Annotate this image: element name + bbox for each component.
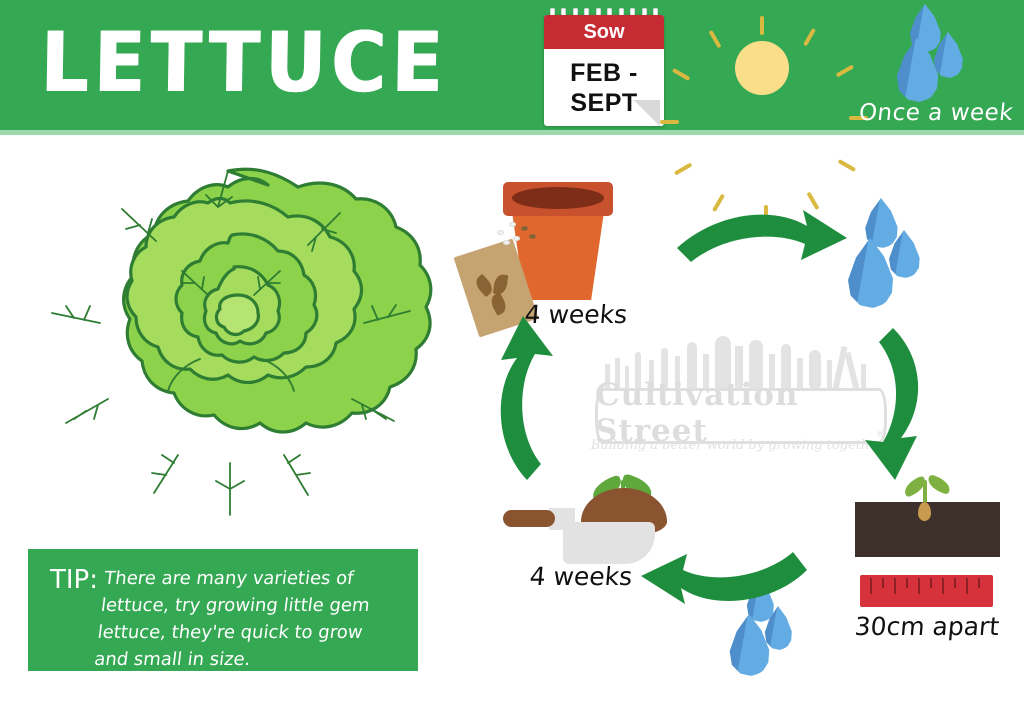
tip-box: TIP: There are many varieties of lettuce… <box>28 549 418 671</box>
sow-month-start: FEB - <box>570 58 638 88</box>
page-title: LETTUCE <box>41 18 450 108</box>
sow-month-end: SEPT <box>570 88 637 118</box>
sun-icon <box>708 14 816 122</box>
calendar-page-fold <box>634 100 660 126</box>
arrow-water-to-soil <box>865 328 918 480</box>
calendar-header: Sow <box>544 15 664 49</box>
water-drops-icon <box>880 4 1000 114</box>
tip-text: There are many varieties of lettuce, try… <box>93 565 406 673</box>
arrow-water-to-trowel <box>641 552 807 604</box>
watering-frequency-label: Once a week <box>847 100 1024 126</box>
header-underline <box>0 130 1024 135</box>
cycle-arrows <box>455 150 1024 690</box>
calendar-icon: Sow FEB - SEPT <box>540 8 668 126</box>
growing-cycle-diagram: Cultivation Street Building a better wor… <box>455 150 1024 690</box>
calendar-heading-text: Sow <box>583 21 624 44</box>
arrow-pot-to-water <box>677 210 847 262</box>
calendar-body: Sow FEB - SEPT <box>544 15 664 126</box>
infographic-page: LETTUCE Sow FEB - SEPT <box>0 0 1024 727</box>
lettuce-illustration <box>22 163 442 525</box>
arrow-trowel-to-pot <box>501 316 553 480</box>
sun-disc <box>735 41 789 95</box>
